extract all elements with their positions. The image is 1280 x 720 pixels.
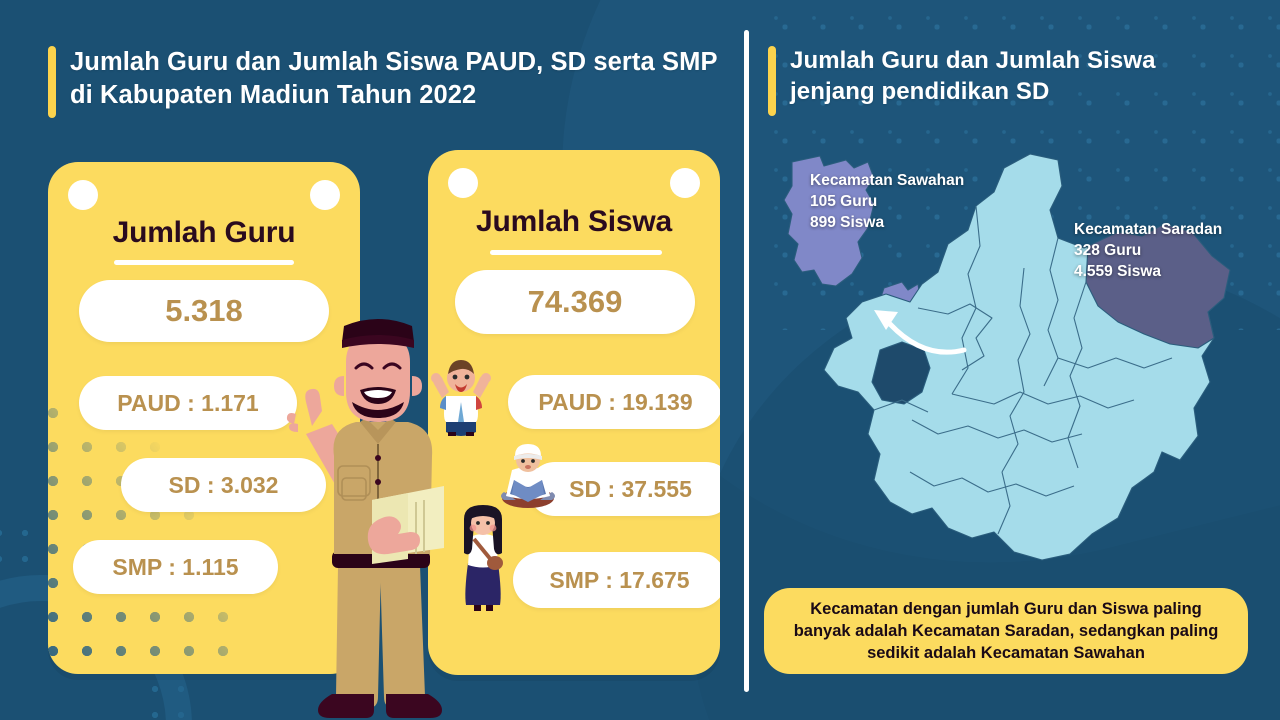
card-dot-texture [48,396,251,674]
map-label-sawahan: Kecamatan Sawahan 105 Guru 899 Siswa [810,171,964,234]
map-label-saradan-teachers: 328 Guru [1074,241,1222,262]
child-reading-illustration [492,440,564,510]
map-label-saradan: Kecamatan Saradan 328 Guru 4.559 Siswa [1074,220,1222,283]
right-title-text: Jumlah Guru dan Jumlah Siswa jenjang pen… [790,46,1238,107]
punch-hole-right-icon [670,168,700,198]
map-label-sawahan-students: 899 Siswa [810,213,964,234]
card-title-underline [490,250,662,255]
siswa-smp-pill: SMP : 17.675 [513,552,720,608]
punch-hole-left-icon [68,180,98,210]
map-label-saradan-name: Kecamatan Saradan [1074,220,1222,241]
title-accent-bar-right [768,46,776,116]
guru-paud-pill: PAUD : 1.171 [79,376,297,430]
card-title-underline [114,260,294,265]
schoolboy-illustration [430,358,492,438]
punch-hole-right-icon [310,180,340,210]
map-caption-box: Kecamatan dengan jumlah Guru dan Siswa p… [764,588,1248,674]
left-title-block: Jumlah Guru dan Jumlah Siswa PAUD, SD se… [48,46,718,118]
map-label-sawahan-name: Kecamatan Sawahan [810,171,964,192]
schoolgirl-illustration [452,505,514,615]
infographic-canvas: Jumlah Guru dan Jumlah Siswa PAUD, SD se… [0,0,1280,720]
card-title-guru: Jumlah Guru [48,216,360,250]
guru-smp-pill: SMP : 1.115 [73,540,278,594]
punch-hole-left-icon [448,168,478,198]
right-title-block: Jumlah Guru dan Jumlah Siswa jenjang pen… [768,46,1238,116]
siswa-paud-pill: PAUD : 19.139 [508,375,720,429]
left-title-text: Jumlah Guru dan Jumlah Siswa PAUD, SD se… [70,46,718,111]
title-accent-bar [48,46,56,118]
map-label-sawahan-teachers: 105 Guru [810,192,964,213]
siswa-total-pill: 74.369 [455,270,695,334]
card-title-siswa: Jumlah Siswa [428,205,720,239]
map-label-saradan-students: 4.559 Siswa [1074,262,1222,283]
section-divider [744,30,749,692]
